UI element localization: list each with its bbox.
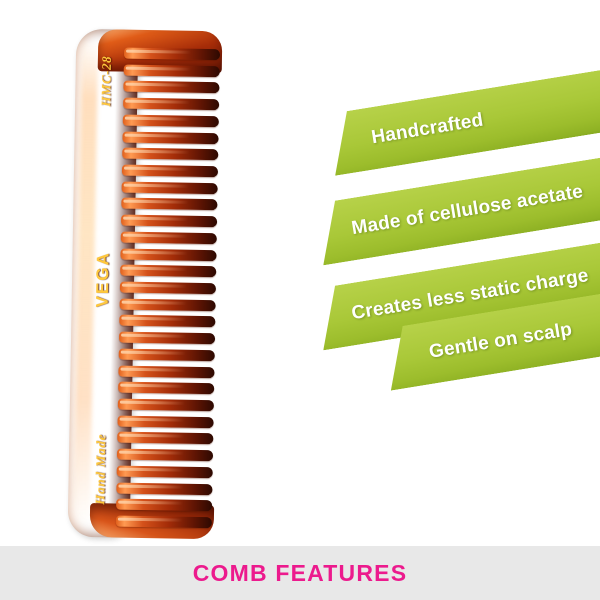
comb-tooth (118, 415, 214, 428)
caption-bar: COMB FEATURES (0, 546, 600, 600)
comb-tooth (122, 181, 218, 194)
feature-banner-list: Handcrafted Made of cellulose acetate Cr… (300, 0, 600, 546)
comb-tooth (124, 48, 220, 61)
comb-tooth (123, 114, 219, 127)
comb-tooth (120, 282, 216, 295)
comb-tooth (122, 131, 218, 144)
comb-tooth (117, 449, 213, 462)
feature-banner-handcrafted: Handcrafted (325, 60, 600, 176)
comb-tooth (119, 332, 215, 345)
comb-tooth (117, 465, 213, 478)
comb-tooth (119, 315, 215, 328)
comb-tooth (120, 248, 216, 261)
feature-banner-label: Handcrafted (370, 110, 485, 150)
comb-tooth (120, 298, 216, 311)
comb-tooth (123, 98, 219, 111)
product-image-area: HMC-28 VEGA Hand Made (0, 0, 300, 546)
comb-tooth (116, 482, 212, 495)
comb-tooth (118, 399, 214, 412)
comb-tooth (117, 432, 213, 445)
comb-tooth (118, 365, 214, 378)
comb-tooth (116, 516, 212, 529)
comb-tooth (116, 499, 212, 512)
comb-tooth (121, 198, 217, 211)
comb-tooth (122, 148, 218, 161)
comb-tooth (119, 348, 215, 361)
feature-banner-label: Made of cellulose acetate (350, 181, 585, 240)
caption-title: COMB FEATURES (193, 560, 408, 587)
comb-tooth (121, 215, 217, 228)
comb-tooth (118, 382, 214, 395)
comb-tooth (123, 81, 219, 94)
comb-tooth (120, 265, 216, 278)
product-feature-graphic: HMC-28 VEGA Hand Made Handcrafted Made o… (0, 0, 600, 600)
comb-tooth (121, 231, 217, 244)
comb-tooth (122, 165, 218, 178)
comb-teeth-group (116, 46, 222, 526)
feature-banner-label: Gentle on scalp (428, 319, 574, 364)
comb-product-image: HMC-28 VEGA Hand Made (68, 29, 223, 539)
comb-tooth (124, 64, 220, 77)
